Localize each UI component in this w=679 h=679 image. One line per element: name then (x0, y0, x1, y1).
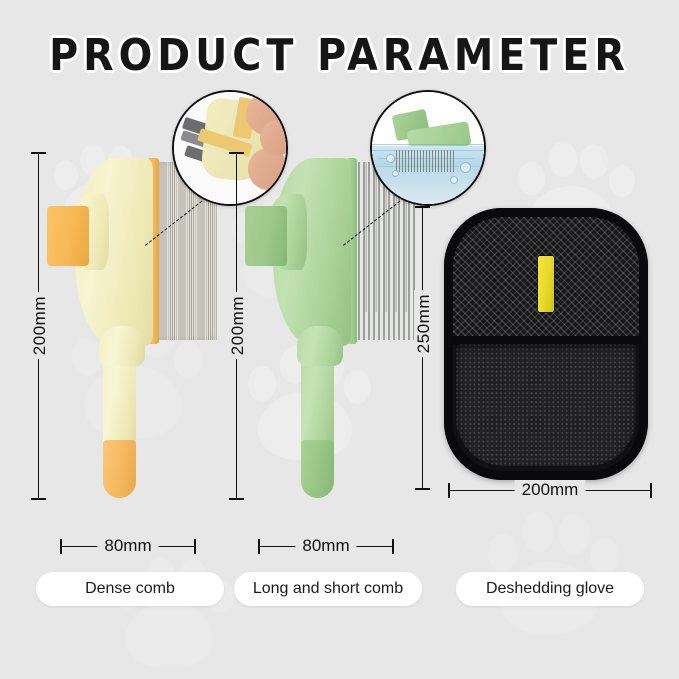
closeup-comb-in-water (372, 92, 484, 204)
dimension-label-comb1-width: 80mm (97, 536, 158, 556)
product-label-dense-comb-text: Dense comb (85, 580, 175, 598)
callout-circle-washable (370, 90, 486, 206)
comb-neck-long-short (297, 326, 343, 366)
glove-mesh-lower (456, 344, 636, 466)
comb-neck-dense (99, 326, 145, 366)
dimension-label-comb1-height: 200mm (30, 292, 50, 359)
paw-print-watermark (476, 496, 626, 646)
product-deshedding-glove (444, 208, 648, 480)
self-clean-button-dense[interactable] (47, 206, 89, 266)
self-clean-button-long-short[interactable] (245, 206, 287, 266)
dimension-label-glove-width: 200mm (515, 480, 586, 500)
product-label-deshedding-glove[interactable]: Deshedding glove (456, 572, 644, 606)
product-label-long-and-short-comb-text: Long and short comb (253, 580, 403, 598)
comb-tip-dense (103, 440, 136, 498)
comb-tip-long-short (301, 440, 334, 498)
paw-print-watermark (104, 542, 240, 678)
product-label-long-and-short-comb[interactable]: Long and short comb (234, 572, 422, 606)
infographic-canvas: PRODUCT PARAMETER 200 (0, 0, 679, 679)
product-label-dense-comb[interactable]: Dense comb (36, 572, 224, 606)
page-title: PRODUCT PARAMETER (0, 30, 679, 81)
product-label-deshedding-glove-text: Deshedding glove (486, 580, 614, 598)
dimension-label-comb2-width: 80mm (295, 536, 356, 556)
dimension-label-glove-height: 250mm (414, 290, 434, 357)
dimension-label-comb2-height: 200mm (228, 292, 248, 359)
glove-pull-tab[interactable] (538, 256, 554, 312)
